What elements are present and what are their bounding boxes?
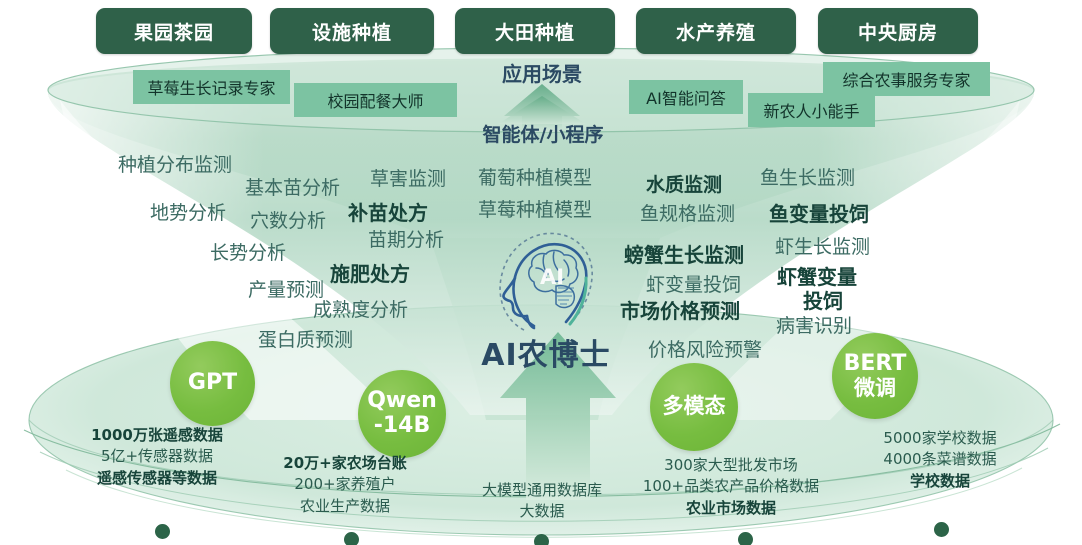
dataset-1-line-0: 20万+家农场台账 bbox=[250, 453, 440, 474]
dataset-4-line-1: 4000条菜谱数据 bbox=[845, 449, 1035, 470]
dataset-4-dot bbox=[934, 522, 949, 537]
capability-label-bumiaochufang: 补苗处方 bbox=[348, 197, 428, 226]
scenario-tab-3-label: 水产养殖 bbox=[676, 18, 756, 45]
capability-label-jiagefengxianyujing: 价格风险预警 bbox=[648, 335, 762, 362]
capability-label-caomeizhongzhimoxing: 草莓种植模型 bbox=[478, 195, 592, 222]
capability-label-xiabianliangtousi: 虾变量投饲 bbox=[646, 270, 741, 297]
dataset-0-line-2: 遥感传感器等数据 bbox=[62, 468, 252, 489]
model-circle-multimodal[interactable]: 多模态 bbox=[650, 363, 738, 451]
capability-label-tousi: 投饲 bbox=[803, 285, 843, 314]
capability-label-xueshufenxi: 穴数分析 bbox=[250, 206, 326, 233]
capability-label-shichangjiageyuce: 市场价格预测 bbox=[620, 295, 740, 324]
model-circle-gpt-label: GPT bbox=[188, 371, 237, 396]
capability-label-danbaizhiyuce: 蛋白质预测 bbox=[258, 325, 353, 352]
scenario-tab-0-label: 果园茶园 bbox=[134, 18, 214, 45]
model-circle-gpt[interactable]: GPT bbox=[170, 341, 255, 426]
scenario-tab-2[interactable]: 大田种植 bbox=[455, 8, 615, 54]
dataset-4-line-2: 学校数据 bbox=[845, 471, 1035, 492]
agent-chip-1-label: 校园配餐大师 bbox=[327, 88, 423, 112]
capability-label-miaoqifenxi: 苗期分析 bbox=[368, 225, 444, 252]
model-circle-qwen-sublabel: -14B bbox=[374, 414, 431, 439]
capability-label-caohaijiance: 草害监测 bbox=[370, 164, 446, 191]
agent-chip-integrated-farm-service-expert[interactable]: 综合农事服务专家 bbox=[823, 62, 990, 96]
model-circle-bert[interactable]: BERT 微调 bbox=[832, 333, 918, 419]
capability-label-putaozhongzhimoxing: 葡萄种植模型 bbox=[478, 163, 592, 190]
infographic-canvas: 果园茶园 设施种植 大田种植 水产养殖 中央厨房 草莓生长记录专家 校园配餐大师… bbox=[0, 0, 1082, 545]
page-title: AI农博士 bbox=[440, 330, 652, 374]
scenario-tab-0[interactable]: 果园茶园 bbox=[96, 8, 252, 54]
scenario-tab-1-label: 设施种植 bbox=[312, 18, 392, 45]
dataset-4-line-0: 5000家学校数据 bbox=[845, 428, 1035, 449]
agent-chip-3-label: 新农人小能手 bbox=[763, 98, 859, 122]
capability-label-shifeichufang: 施肥处方 bbox=[330, 258, 410, 287]
dataset-2-line-1: 大数据 bbox=[447, 501, 637, 522]
capability-label-yuguigejiance: 鱼规格监测 bbox=[640, 199, 735, 226]
dataset-big-data: 大模型通用数据库 大数据 bbox=[447, 480, 637, 523]
scenario-tab-bar: 果园茶园 设施种植 大田种植 水产养殖 中央厨房 bbox=[0, 8, 1082, 54]
scenario-tab-2-label: 大田种植 bbox=[495, 18, 575, 45]
scenario-tab-4[interactable]: 中央厨房 bbox=[818, 8, 978, 54]
brain-ai-text: AI bbox=[540, 265, 564, 289]
dataset-agri-production: 20万+家农场台账 200+家养殖户 农业生产数据 bbox=[250, 453, 440, 517]
agent-chip-campus-catering-master[interactable]: 校园配餐大师 bbox=[294, 83, 457, 117]
model-circle-multimodal-label: 多模态 bbox=[663, 395, 726, 419]
capability-label-zhangshifenxi: 长势分析 bbox=[210, 238, 286, 265]
dataset-0-dot bbox=[155, 524, 170, 539]
model-circle-qwen-label: Qwen bbox=[367, 389, 437, 414]
agent-chip-new-farmer-helper[interactable]: 新农人小能手 bbox=[748, 93, 875, 127]
capability-label-yubianliangtousi: 鱼变量投饲 bbox=[769, 198, 869, 227]
scenario-tab-3[interactable]: 水产养殖 bbox=[636, 8, 796, 54]
capability-label-binghaishibie: 病害识别 bbox=[776, 311, 852, 338]
capability-label-yushengzhangjiance: 鱼生长监测 bbox=[760, 163, 855, 190]
dataset-3-dot bbox=[738, 532, 753, 545]
model-circle-qwen[interactable]: Qwen -14B bbox=[358, 370, 446, 458]
model-circle-bert-sublabel: 微调 bbox=[854, 377, 896, 401]
capability-label-shuizhijiance: 水质监测 bbox=[646, 170, 722, 197]
dataset-0-line-0: 1000万张遥感数据 bbox=[62, 425, 252, 446]
agent-chip-strawberry-growth-expert[interactable]: 草莓生长记录专家 bbox=[133, 70, 290, 104]
agent-miniprogram-label: 智能体/小程序 bbox=[450, 120, 636, 147]
model-circle-bert-label: BERT bbox=[844, 352, 907, 377]
scenario-tab-4-label: 中央厨房 bbox=[858, 18, 938, 45]
dataset-2-line-0: 大模型通用数据库 bbox=[447, 480, 637, 501]
dataset-market: 300家大型批发市场 100+品类农产品价格数据 农业市场数据 bbox=[620, 455, 842, 519]
dataset-1-dot bbox=[344, 532, 359, 545]
dataset-3-line-2: 农业市场数据 bbox=[620, 498, 842, 519]
agent-chip-0-label: 草莓生长记录专家 bbox=[147, 75, 275, 99]
dataset-school: 5000家学校数据 4000条菜谱数据 学校数据 bbox=[845, 428, 1035, 492]
capability-label-pangxieshengzhangjiance: 螃蟹生长监测 bbox=[624, 239, 744, 268]
agent-chip-2-label: AI智能问答 bbox=[646, 85, 726, 109]
capability-label-jibenmiaofenxi: 基本苗分析 bbox=[245, 173, 340, 200]
dataset-3-line-0: 300家大型批发市场 bbox=[620, 455, 842, 476]
ai-brain-head-icon: AI bbox=[488, 222, 604, 338]
dataset-1-line-1: 200+家养殖户 bbox=[250, 474, 440, 495]
dataset-2-dot bbox=[534, 534, 549, 545]
dataset-0-line-1: 5亿+传感器数据 bbox=[62, 446, 252, 467]
agent-chip-ai-qa[interactable]: AI智能问答 bbox=[629, 80, 743, 114]
capability-label-xiashengzhangjiance: 虾生长监测 bbox=[775, 232, 870, 259]
application-scenario-label: 应用场景 bbox=[462, 58, 622, 87]
dataset-1-line-2: 农业生产数据 bbox=[250, 496, 440, 517]
scenario-tab-1[interactable]: 设施种植 bbox=[270, 8, 434, 54]
capability-label-dishifenxi: 地势分析 bbox=[150, 198, 226, 225]
dataset-remote-sensing: 1000万张遥感数据 5亿+传感器数据 遥感传感器等数据 bbox=[62, 425, 252, 489]
dataset-3-line-1: 100+品类农产品价格数据 bbox=[620, 476, 842, 497]
agent-chip-4-label: 综合农事服务专家 bbox=[842, 67, 970, 91]
capability-label-zhongzhifenbujiance: 种植分布监测 bbox=[118, 150, 232, 177]
capability-label-chengshudufenxi: 成熟度分析 bbox=[313, 295, 408, 322]
